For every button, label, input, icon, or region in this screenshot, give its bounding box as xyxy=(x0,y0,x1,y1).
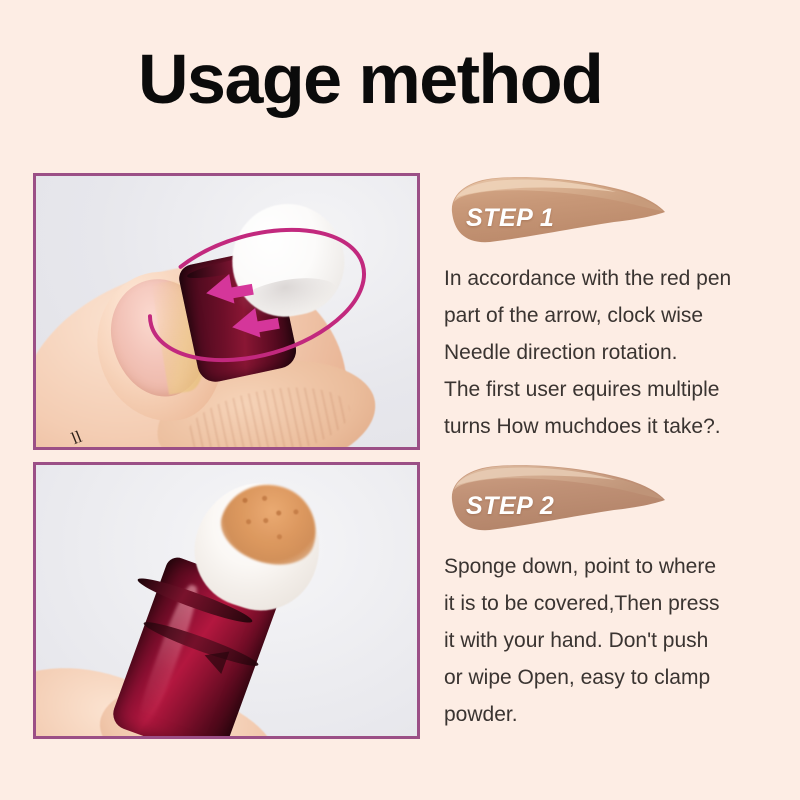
step-2-smear: STEP 2 xyxy=(444,460,669,540)
photo-step-2 xyxy=(33,462,420,739)
step-1-smear: STEP 1 xyxy=(444,172,669,252)
step-2-line: or wipe Open, easy to clamp xyxy=(444,659,774,696)
photo-step-2-stage xyxy=(36,465,417,736)
step-1-label: STEP 1 xyxy=(466,204,554,233)
photo-step-1-stage: ll xyxy=(36,176,417,447)
step-1-line: In accordance with the red pen xyxy=(444,260,774,297)
step-1-line: part of the arrow, clock wise xyxy=(444,297,774,334)
step-2-label: STEP 2 xyxy=(466,492,554,521)
step-1-line: Needle direction rotation. xyxy=(444,334,774,371)
step-2-block: STEP 2 Sponge down, point to where it is… xyxy=(444,460,784,733)
step-2-line: Sponge down, point to where xyxy=(444,548,774,585)
step-2-line: powder. xyxy=(444,696,774,733)
step-1-line: turns How muchdoes it take?. xyxy=(444,408,774,445)
step-1-block: STEP 1 In accordance with the red pen pa… xyxy=(444,172,784,445)
step-1-text: In accordance with the red pen part of t… xyxy=(444,260,774,445)
step-2-line: it with your hand. Don't push xyxy=(444,622,774,659)
step-1-line: The first user equires multiple xyxy=(444,371,774,408)
step-2-text: Sponge down, point to where it is to be … xyxy=(444,548,774,733)
direction-arrow-icon xyxy=(204,274,235,308)
rotation-orbit-icon xyxy=(132,220,382,370)
usage-method-infographic: Usage method ll xyxy=(0,0,800,800)
page-title: Usage method xyxy=(138,44,602,114)
photo-step-1: ll xyxy=(33,173,420,450)
direction-arrow-icon xyxy=(230,308,261,342)
step-2-line: it is to be covered,Then press xyxy=(444,585,774,622)
